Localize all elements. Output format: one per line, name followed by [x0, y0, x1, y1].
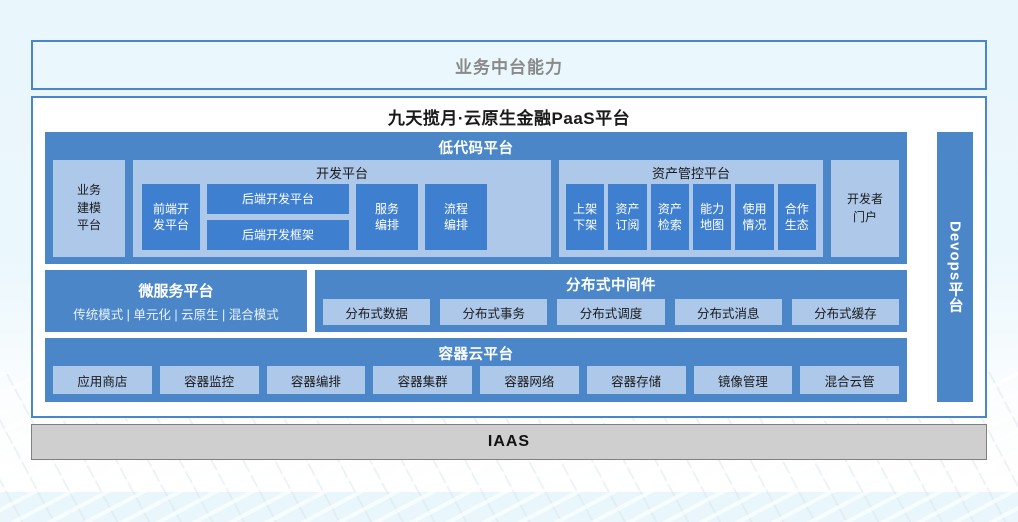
business-modeling-platform-label: 业务建模平台 — [77, 182, 101, 234]
lowcode-platform-title: 低代码平台 — [45, 137, 907, 158]
devops-platform-label: Devops平台 — [945, 221, 966, 313]
lowcode-platform-section: 低代码平台 业务建模平台 开发平台 前端开发平台 后端 — [45, 132, 907, 264]
architecture-diagram: 业务中台能力 九天揽月·云原生金融PaaS平台 低代码平台 业务建模平台 — [0, 0, 1018, 492]
paas-body: 低代码平台 业务建模平台 开发平台 前端开发平台 后端 — [45, 132, 973, 408]
microservice-platform-subtitle: 传统模式 | 单元化 | 云原生 | 混合模式 — [73, 304, 279, 323]
asset-tile-subscription[interactable]: 资产订阅 — [608, 184, 646, 250]
container-chip-network[interactable]: 容器网络 — [480, 366, 579, 394]
iaas-label: IAAS — [488, 433, 530, 451]
container-chip-cluster[interactable]: 容器集群 — [373, 366, 472, 394]
microservice-platform-section[interactable]: 微服务平台 传统模式 | 单元化 | 云原生 | 混合模式 — [45, 270, 307, 332]
distributed-middleware-title: 分布式中间件 — [315, 274, 907, 295]
container-chip-storage[interactable]: 容器存储 — [587, 366, 686, 394]
frontend-dev-platform-tile[interactable]: 前端开发平台 — [142, 184, 200, 250]
process-orchestration-tile[interactable]: 流程编排 — [425, 184, 487, 250]
distributed-middleware-section: 分布式中间件 分布式数据 分布式事务 分布式调度 分布式消息 分布式缓存 — [315, 270, 907, 332]
service-orchestration-tile[interactable]: 服务编排 — [356, 184, 418, 250]
iaas-footer-band: IAAS — [31, 424, 987, 460]
container-chip-monitoring[interactable]: 容器监控 — [160, 366, 259, 394]
devops-platform-rail[interactable]: Devops平台 — [937, 132, 973, 402]
developer-portal-box[interactable]: 开发者门户 — [831, 160, 899, 257]
asset-management-tiles: 上架下架 资产订阅 资产检索 能力地图 使用情况 合作生态 — [566, 184, 816, 250]
asset-management-platform-label: 资产管控平台 — [559, 163, 823, 182]
asset-tile-capability-map[interactable]: 能力地图 — [693, 184, 731, 250]
container-cloud-platform-title: 容器云平台 — [45, 343, 907, 364]
backend-dev-platform-tile[interactable]: 后端开发平台 — [207, 184, 349, 214]
business-middle-platform-label: 业务中台能力 — [455, 53, 563, 78]
paas-layer-stack: 低代码平台 业务建模平台 开发平台 前端开发平台 后端 — [45, 132, 907, 408]
developer-portal-label: 开发者门户 — [847, 191, 883, 226]
business-modeling-platform-box[interactable]: 业务建模平台 — [53, 160, 125, 257]
middleware-chip-cache[interactable]: 分布式缓存 — [792, 299, 899, 325]
distributed-middleware-tiles: 分布式数据 分布式事务 分布式调度 分布式消息 分布式缓存 — [323, 299, 899, 325]
asset-tile-search[interactable]: 资产检索 — [651, 184, 689, 250]
asset-tile-partner-ecosystem[interactable]: 合作生态 — [778, 184, 816, 250]
development-platform-label: 开发平台 — [133, 163, 551, 182]
backend-dev-column: 后端开发平台 后端开发框架 — [207, 184, 349, 250]
middleware-chip-scheduling[interactable]: 分布式调度 — [557, 299, 664, 325]
container-chip-orchestration[interactable]: 容器编排 — [267, 366, 366, 394]
development-platform-tiles: 前端开发平台 后端开发平台 后端开发框架 服务编排 流程编排 — [142, 184, 542, 250]
microservice-platform-title: 微服务平台 — [138, 280, 213, 301]
middleware-chip-transaction[interactable]: 分布式事务 — [440, 299, 547, 325]
paas-platform-title: 九天揽月·云原生金融PaaS平台 — [33, 104, 985, 129]
container-chip-hybrid-cloud[interactable]: 混合云管 — [800, 366, 899, 394]
development-platform-group: 开发平台 前端开发平台 后端开发平台 后端开发框架 服务编排 流程编排 — [133, 160, 551, 257]
lowcode-columns: 业务建模平台 开发平台 前端开发平台 后端开发平台 后端开发框架 — [53, 160, 899, 257]
container-chip-image-management[interactable]: 镜像管理 — [694, 366, 793, 394]
container-cloud-platform-section: 容器云平台 应用商店 容器监控 容器编排 容器集群 容器网络 容器存储 镜像管理… — [45, 338, 907, 402]
paas-platform-frame: 九天揽月·云原生金融PaaS平台 低代码平台 业务建模平台 开发平台 — [31, 96, 987, 418]
container-chip-app-store[interactable]: 应用商店 — [53, 366, 152, 394]
middleware-chip-data[interactable]: 分布式数据 — [323, 299, 430, 325]
asset-tile-usage[interactable]: 使用情况 — [735, 184, 773, 250]
middleware-chip-message[interactable]: 分布式消息 — [675, 299, 782, 325]
business-middle-platform-band: 业务中台能力 — [31, 40, 987, 90]
asset-tile-listing[interactable]: 上架下架 — [566, 184, 604, 250]
middle-layer-row: 微服务平台 传统模式 | 单元化 | 云原生 | 混合模式 分布式中间件 分布式… — [45, 270, 907, 332]
backend-dev-framework-tile[interactable]: 后端开发框架 — [207, 220, 349, 250]
asset-management-platform-group: 资产管控平台 上架下架 资产订阅 资产检索 能力地图 使用情况 合作生态 — [559, 160, 823, 257]
container-cloud-tiles: 应用商店 容器监控 容器编排 容器集群 容器网络 容器存储 镜像管理 混合云管 — [53, 366, 899, 394]
